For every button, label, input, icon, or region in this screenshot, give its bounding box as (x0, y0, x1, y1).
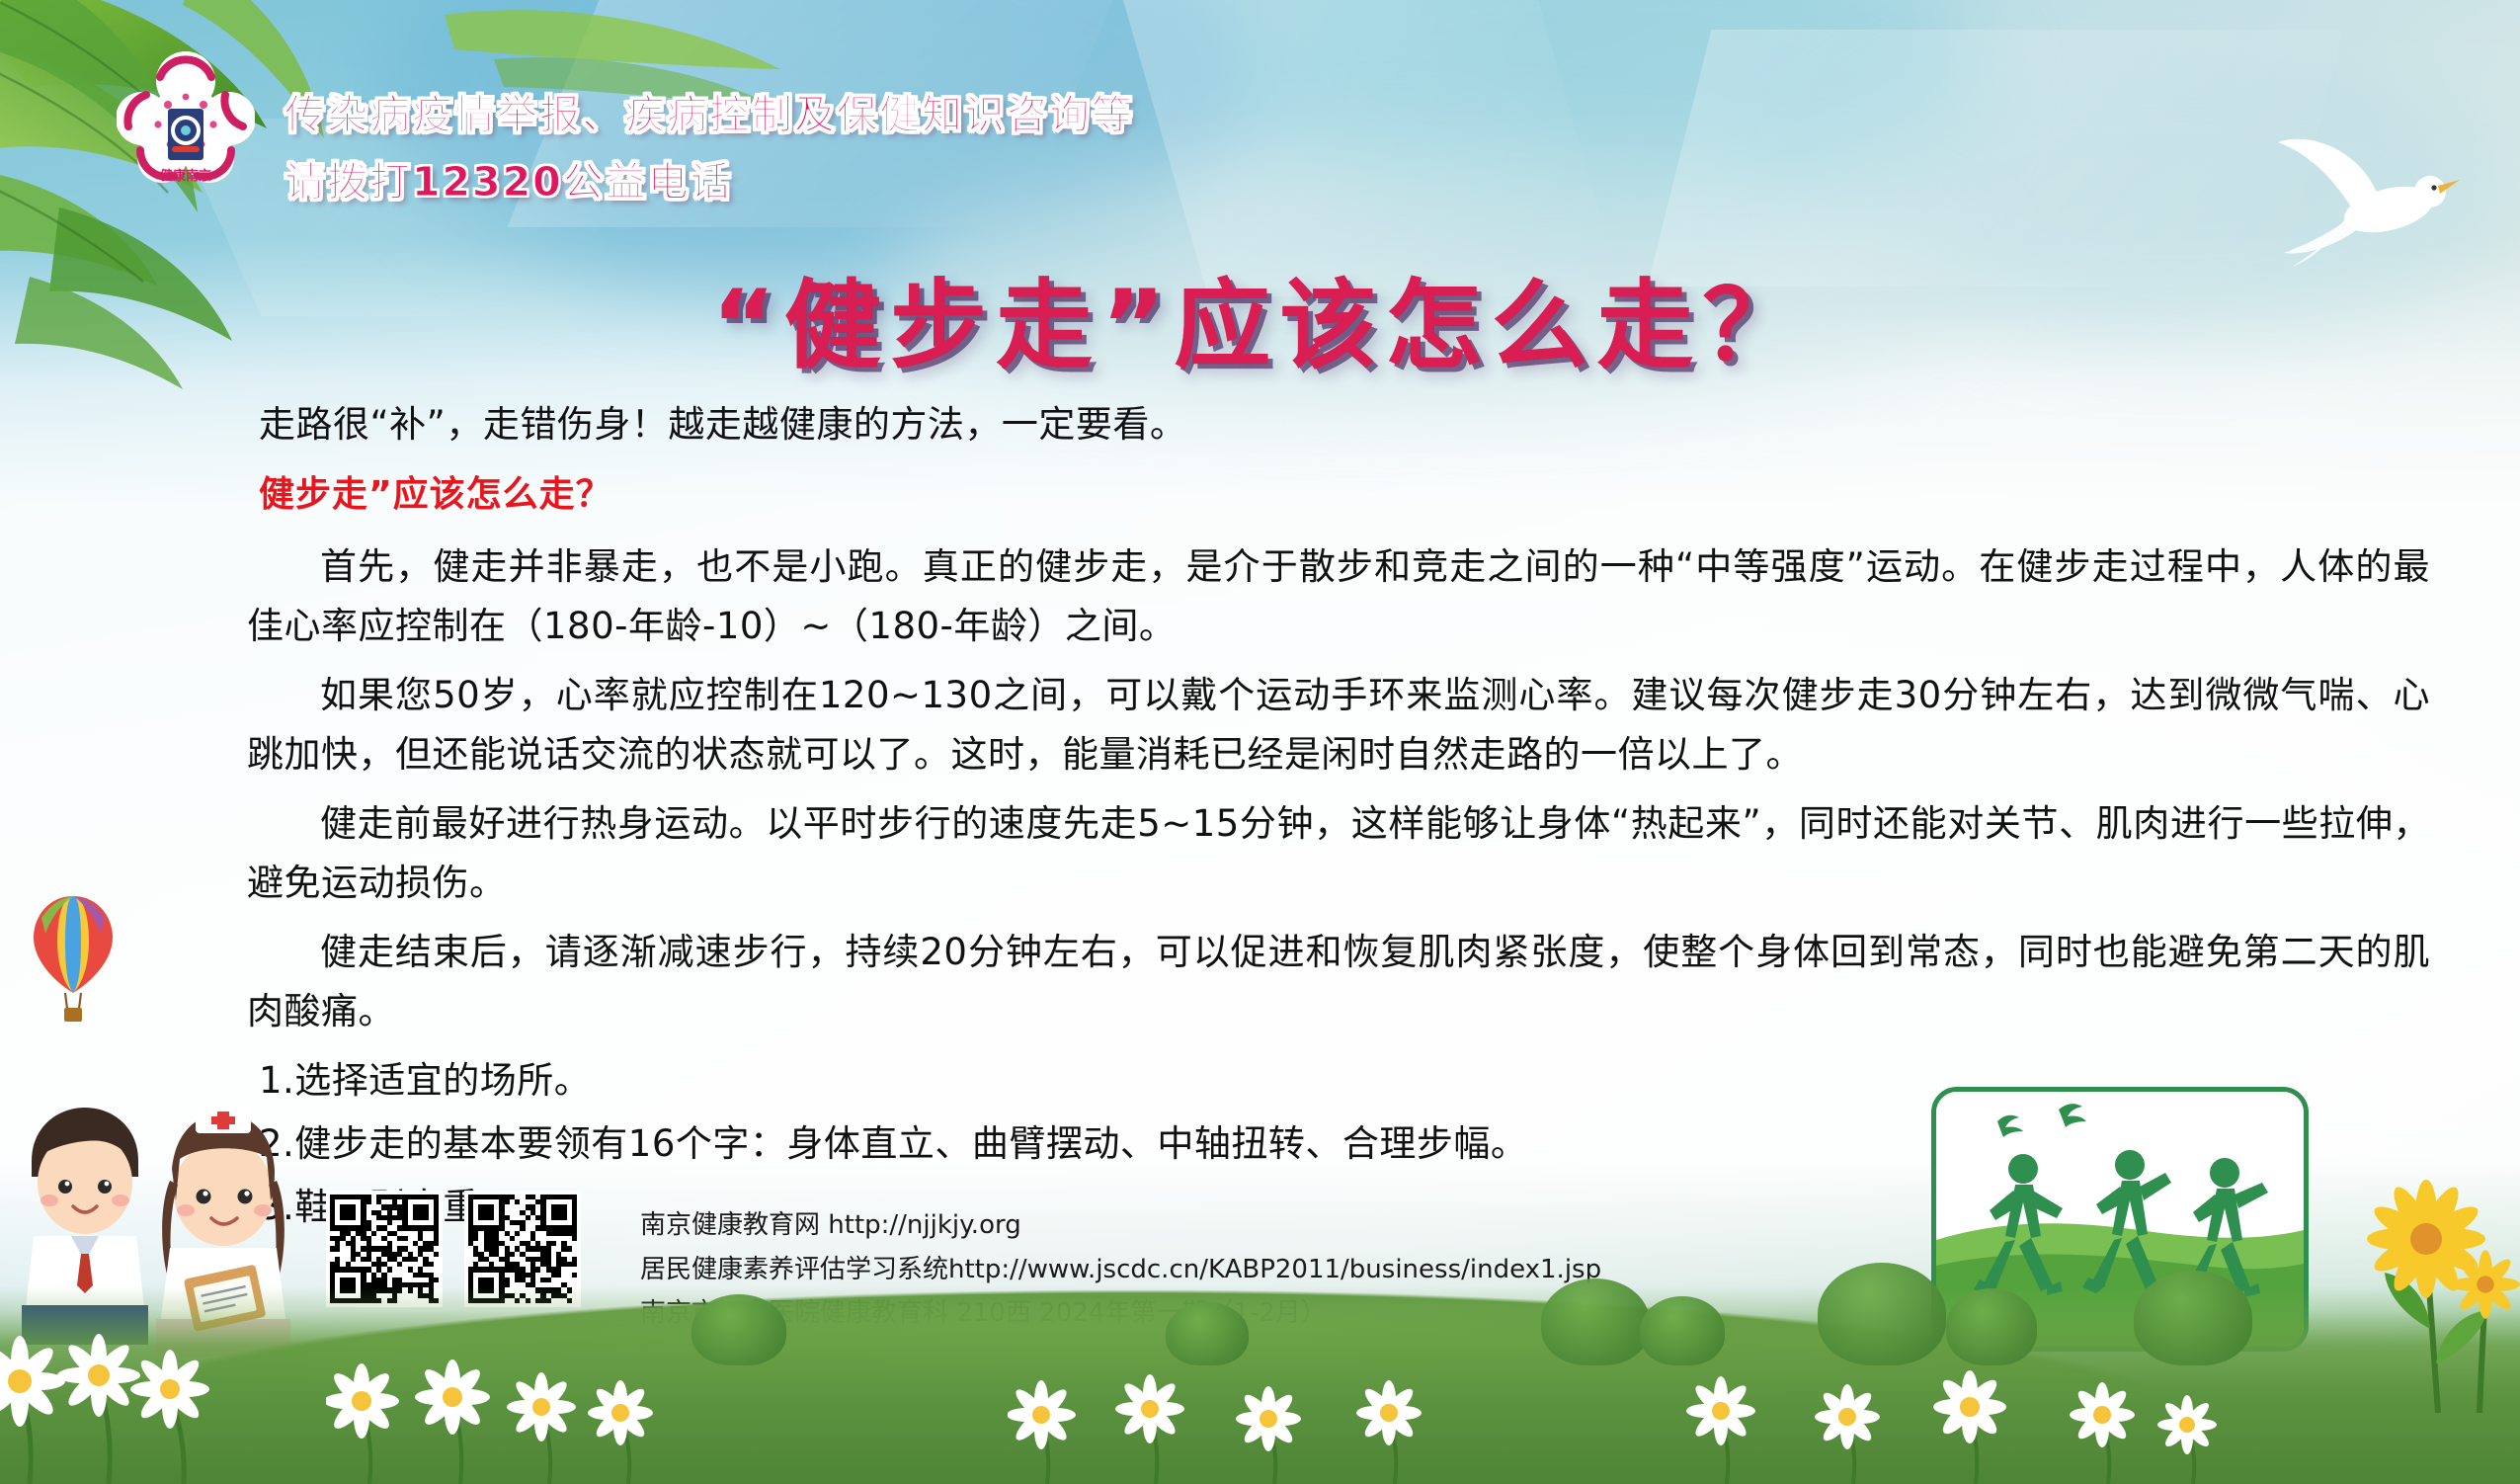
bush (1946, 1288, 2037, 1365)
bush (1166, 1302, 1249, 1365)
dove-icon (2272, 119, 2479, 267)
bush (691, 1294, 786, 1365)
hot-air-balloon-icon (28, 894, 119, 1032)
paragraph: 健走结束后，请逐渐减速步行，持续20分钟左右，可以促进和恢复肌肉紧张度，使整个身… (247, 923, 2430, 1041)
header-line-1: 传染病疫情举报、疾病控制及保健知识咨询等 (285, 81, 1134, 140)
header-block: 传染病疫情举报、疾病控制及保健知识咨询等 请拨打12320公益电话 (285, 81, 1134, 207)
logo-badge: 健康南京 (117, 47, 255, 184)
paragraph: 如果您50岁，心率就应控制在120~130之间，可以戴个运动手环来监测心率。建议… (247, 666, 2430, 784)
bush (1541, 1278, 1650, 1365)
health-poster: 健康南京 传染病疫情举报、疾病控制及保健知识咨询等 请拨打12320公益电话 “… (0, 0, 2520, 1484)
sky-gradient-blob (1235, 0, 1986, 247)
svg-text:健康南京: 健康南京 (160, 168, 211, 184)
page-title: “健步走”应该怎么走？ (0, 247, 2520, 387)
bush (1640, 1296, 1725, 1365)
header-line-2: 请拨打12320公益电话 (285, 148, 1134, 207)
lead-sentence: 走路很“补”，走错伤身！越走越健康的方法，一定要看。 (259, 395, 2430, 454)
paragraph: 首先，健走并非暴走，也不是小跑。真正的健步走，是介于散步和竞走之间的一种“中等强… (247, 537, 2430, 656)
bush (1818, 1263, 1946, 1365)
bush (2134, 1271, 2252, 1365)
section-subheading: 健步走”应该怎么走？ (259, 466, 2430, 524)
paragraph: 健走前最好进行热身运动。以平时步行的速度先走5~15分钟，这样能够让身体“热起来… (247, 794, 2430, 913)
